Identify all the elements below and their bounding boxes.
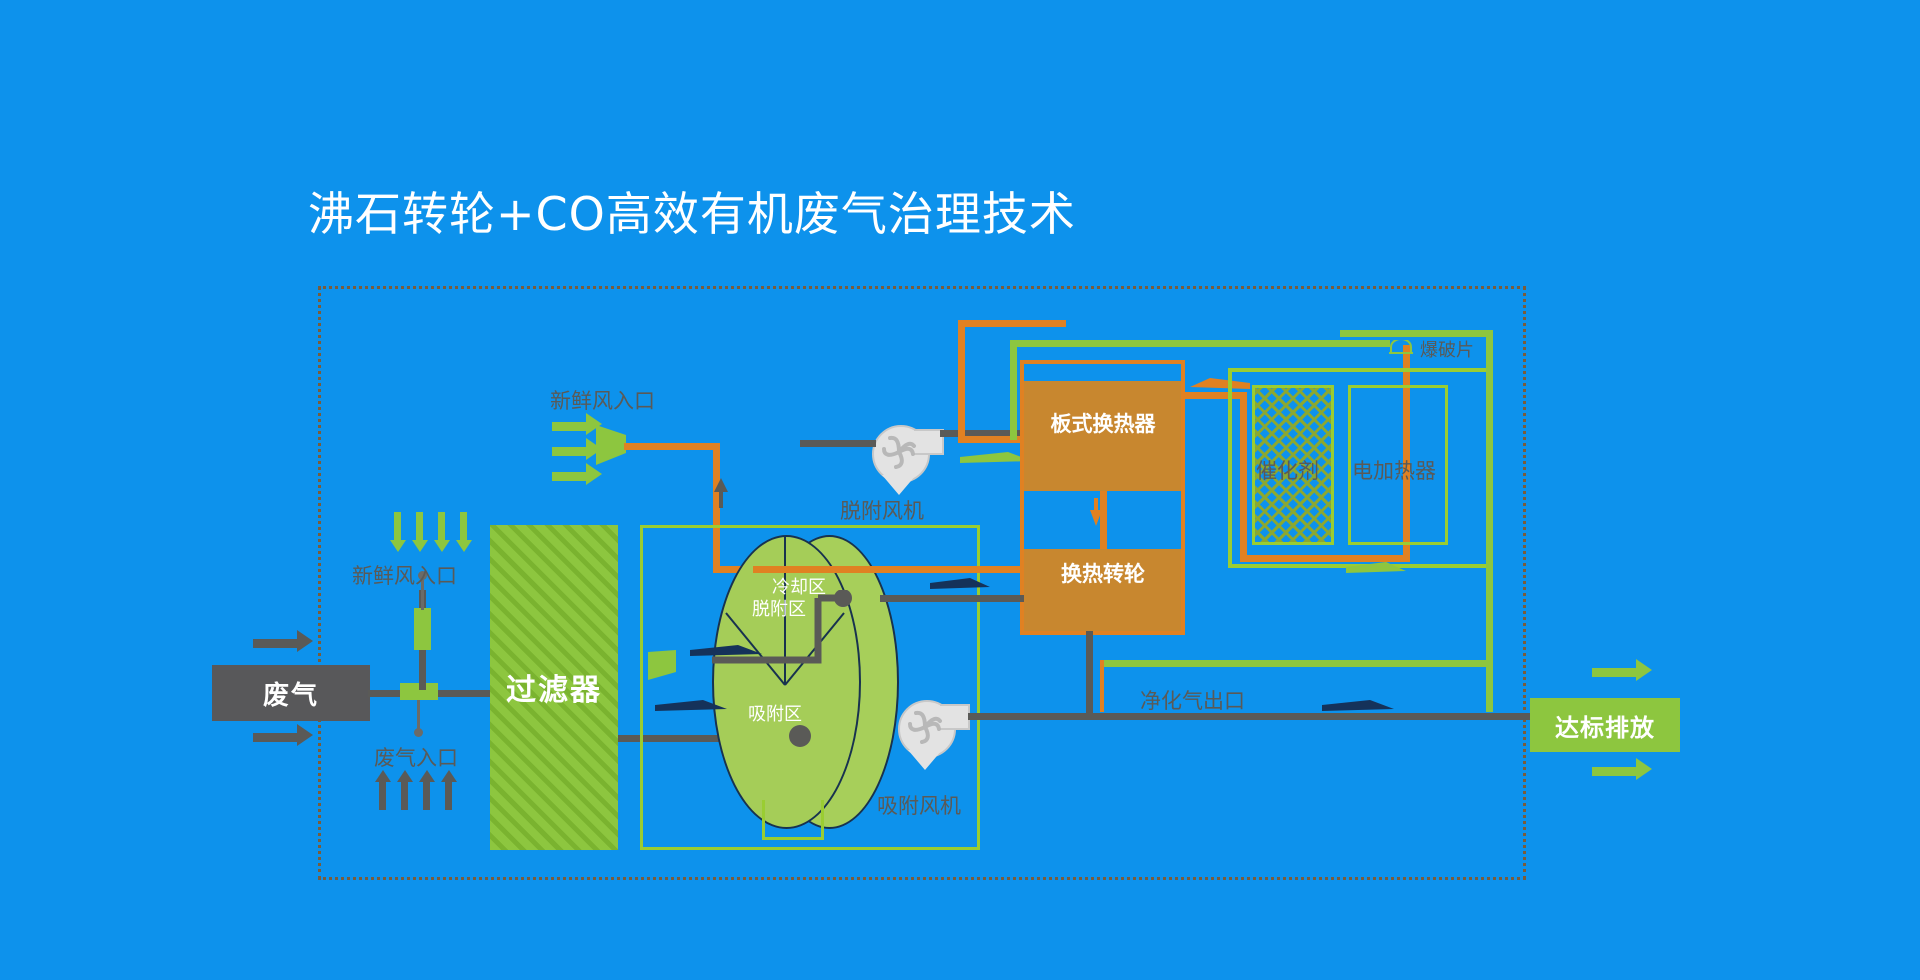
- hx-return-duct-top-horizontal: [958, 320, 1066, 327]
- hx-to-rotor-desorption-duct: [753, 566, 1024, 573]
- waste-gas-inlet-arrow-1-shaft: [379, 782, 386, 810]
- waste-gas-inlet-label: 废气入口: [374, 742, 458, 772]
- waste-gas-inlet-arrow-4-head: [441, 770, 457, 782]
- cooling-flow-arrow-icon: [930, 578, 990, 594]
- fresh-air-lower-arrow-1-head: [390, 540, 406, 552]
- orange-drop-marker: [1100, 660, 1104, 712]
- waste-gas-inlet-arrow-1-head: [375, 770, 391, 782]
- waste-gas-inlet-arrow-3-shaft: [423, 782, 430, 810]
- rotor-adsorption-inlet-node: [780, 720, 820, 750]
- fresh-air-lower-arrow-3-head: [434, 540, 450, 552]
- duct-flow-arrow-icon: [712, 478, 730, 508]
- hx-return-duct-left-vertical: [958, 320, 965, 442]
- burst-disc-label: 爆破片: [1420, 336, 1474, 362]
- waste-gas-inlet-valve-stem: [417, 700, 420, 730]
- fresh-air-lower-arrow-2-shaft: [416, 512, 423, 540]
- green-circuit-right-vertical: [1486, 330, 1493, 710]
- catalyst-return-arrow-icon: [1346, 562, 1406, 578]
- waste-gas-arrow-upper-shaft: [253, 639, 297, 648]
- compliant-discharge-label: 达标排放: [1555, 708, 1655, 743]
- diagram-canvas: 沸石转轮+CO高效有机废气治理技术 废气 废气入口 新鲜风入口 过滤器 新鲜风入: [0, 0, 1920, 980]
- fresh-air-upper-arrow-3-shaft: [552, 472, 586, 481]
- waste-gas-arrow-upper-head: [297, 630, 313, 652]
- compliant-discharge-box: 达标排放: [1530, 698, 1680, 752]
- page-title: 沸石转轮+CO高效有机废气治理技术: [308, 178, 1076, 244]
- electric-heater-label: 电加热器: [1352, 455, 1436, 485]
- regenerative-wheel-label: 换热转轮: [1032, 558, 1174, 588]
- fresh-air-lower-arrow-1-shaft: [394, 512, 401, 540]
- green-circuit-down-to-outlet: [1486, 660, 1493, 712]
- filter-box: 过滤器: [490, 525, 618, 850]
- waste-gas-inlet-arrow-3-head: [419, 770, 435, 782]
- burst-disc-icon: [1389, 340, 1413, 354]
- fresh-air-lower-valve[interactable]: [414, 608, 431, 650]
- fan-icon: [902, 704, 948, 750]
- fan-icon: [876, 429, 922, 475]
- fresh-air-lower-arrow-4-shaft: [460, 512, 467, 540]
- catalyst-label: 催化剂: [1256, 455, 1319, 485]
- heat-exchanger-internal-arrow-icon: [1088, 498, 1104, 528]
- adsorption-fan-foot: [908, 750, 942, 770]
- fresh-air-lower-arrow-4-head: [456, 540, 472, 552]
- green-circuit-bottom-horizontal: [1100, 660, 1490, 667]
- fresh-air-inlet-lower-label: 新鲜风入口: [352, 560, 457, 590]
- waste-gas-inlet-arrow-2-head: [397, 770, 413, 782]
- discharge-arrow-upper-shaft: [1592, 668, 1636, 677]
- waste-gas-source-box: 废气: [212, 665, 370, 721]
- green-circuit-top-horizontal: [1010, 340, 1390, 347]
- purified-gas-outlet-label: 净化气出口: [1140, 685, 1245, 715]
- desorption-fan-label: 脱附风机: [840, 495, 924, 525]
- fresh-air-lower-arrow-2-head: [412, 540, 428, 552]
- adsorption-fan-label: 吸附风机: [877, 790, 961, 820]
- green-circuit-left-vertical: [1010, 340, 1017, 440]
- waste-gas-arrow-lower-head: [297, 724, 313, 746]
- waste-gas-inlet-arrow-2-shaft: [401, 782, 408, 810]
- adsorption-damper-icon: [648, 650, 678, 684]
- rotor-flow-arrow-lower-icon: [655, 700, 727, 718]
- filter-label: 过滤器: [490, 665, 618, 709]
- fresh-air-upper-arrow-2-shaft: [552, 447, 586, 456]
- waste-gas-arrow-lower-shaft: [253, 733, 297, 742]
- rotor-cooling-outlet-pipe: [880, 595, 1024, 602]
- fresh-air-upper-arrow-1-shaft: [552, 422, 586, 431]
- fresh-air-lower-arrow-3-shaft: [438, 512, 445, 540]
- fresh-air-orange-duct-horizontal: [624, 443, 720, 450]
- discharge-arrow-lower-head: [1636, 758, 1652, 780]
- discharge-arrow-lower-shaft: [1592, 767, 1636, 776]
- waste-gas-inlet-arrow-4-shaft: [445, 782, 452, 810]
- rotor-flow-arrow-upper-icon: [690, 645, 762, 663]
- fresh-air-inlet-upper-label: 新鲜风入口: [550, 385, 655, 415]
- waste-gas-source-label: 废气: [263, 675, 319, 712]
- purified-gas-pipe: [968, 713, 1538, 720]
- purified-gas-flow-arrow-icon: [1322, 700, 1394, 718]
- desorption-fan-inlet-pipe: [800, 440, 876, 447]
- hx-bottom-drop-pipe: [1086, 631, 1093, 715]
- plate-heat-exchanger-label: 板式换热器: [1032, 408, 1174, 438]
- desorption-fan-foot: [882, 475, 916, 495]
- discharge-arrow-upper-head: [1636, 659, 1652, 681]
- waste-gas-inlet-valve-knob: [414, 728, 423, 737]
